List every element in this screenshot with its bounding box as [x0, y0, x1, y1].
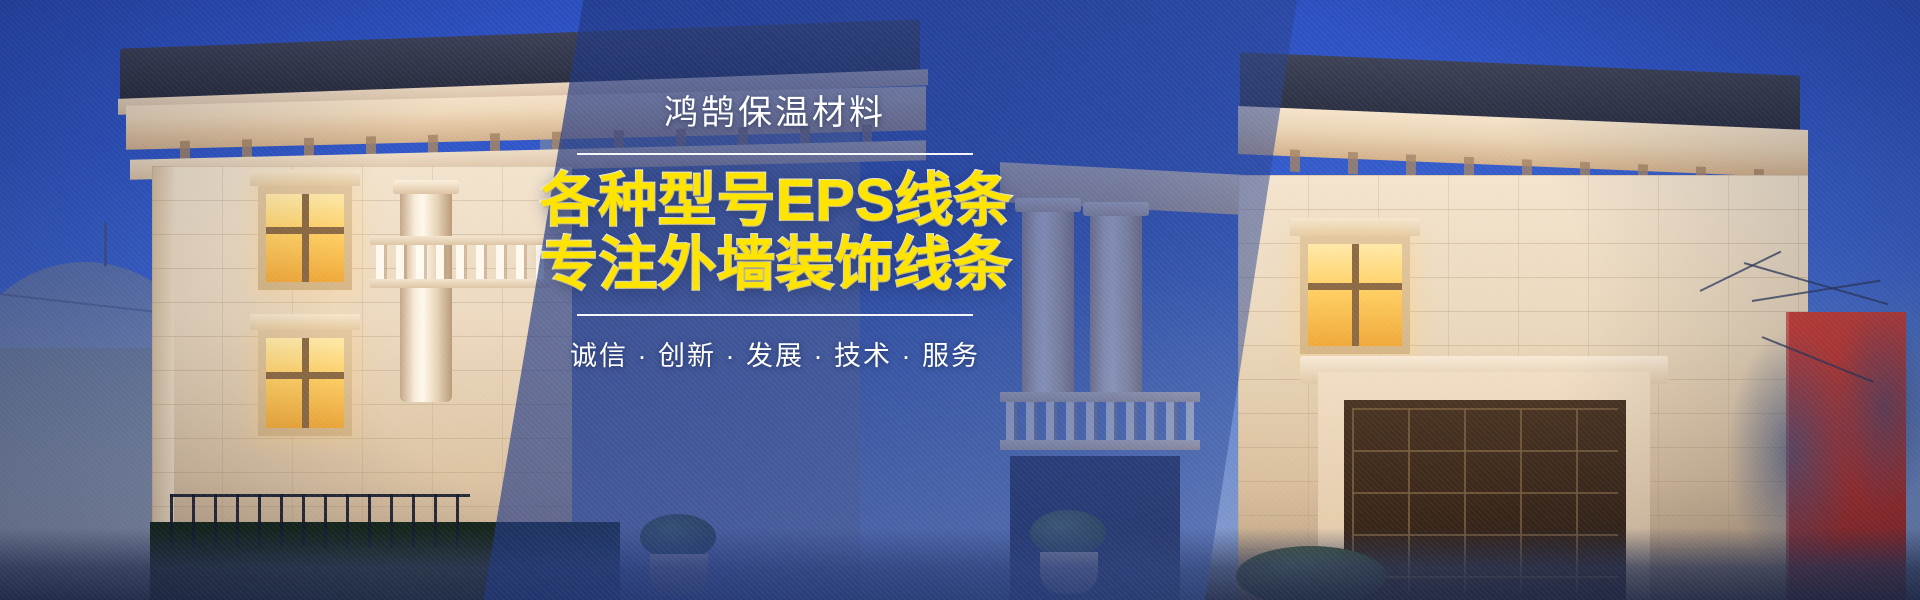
ground-shadow — [0, 528, 1920, 600]
tagline: 诚信 · 创新 · 发展 · 技术 · 服务 — [540, 334, 1010, 373]
window-mullion-horizontal — [1308, 283, 1402, 290]
balusters — [376, 245, 544, 279]
villa-pilaster-capital — [393, 180, 459, 194]
window-lintel — [250, 314, 360, 330]
portico-balustrade-rail — [1000, 392, 1200, 402]
window-mullion-horizontal — [266, 372, 344, 379]
villa-window — [258, 330, 352, 436]
villa-window — [1300, 236, 1410, 354]
portico-balusters — [1006, 402, 1194, 440]
window-glass — [266, 194, 344, 282]
divider-bottom — [577, 314, 973, 316]
divider-top — [577, 153, 973, 155]
window-mullion-vertical — [1352, 244, 1359, 346]
villa-pilaster — [400, 188, 452, 402]
window-mullion-vertical — [302, 194, 309, 282]
window-mullion-vertical — [302, 338, 309, 428]
hero-banner: 鸿鹄保温材料 各种型号EPS线条 专注外墙装饰线条 诚信 · 创新 · 发展 ·… — [0, 0, 1920, 600]
balustrade-rail — [370, 236, 550, 245]
banner-copy-block: 鸿鹄保温材料 各种型号EPS线条 专注外墙装饰线条 诚信 · 创新 · 发展 ·… — [540, 92, 1010, 373]
headline-line-1: 各种型号EPS线条 — [540, 169, 1010, 234]
headline-line-2: 专注外墙装饰线条 — [540, 233, 1010, 298]
window-lintel — [1290, 218, 1420, 236]
window-lintel — [250, 170, 360, 186]
balustrade-base — [370, 279, 550, 288]
window-mullion-horizontal — [266, 227, 344, 234]
portico-column — [1022, 206, 1074, 396]
window-glass — [266, 338, 344, 428]
portico-column-capital — [1083, 202, 1149, 216]
portico-balustrade-base — [1000, 440, 1200, 450]
company-name: 鸿鹄保温材料 — [540, 92, 1010, 135]
villa-window — [258, 186, 352, 290]
portico-column — [1090, 210, 1142, 400]
portico-column-capital — [1015, 198, 1081, 212]
window-glass — [1308, 244, 1402, 346]
